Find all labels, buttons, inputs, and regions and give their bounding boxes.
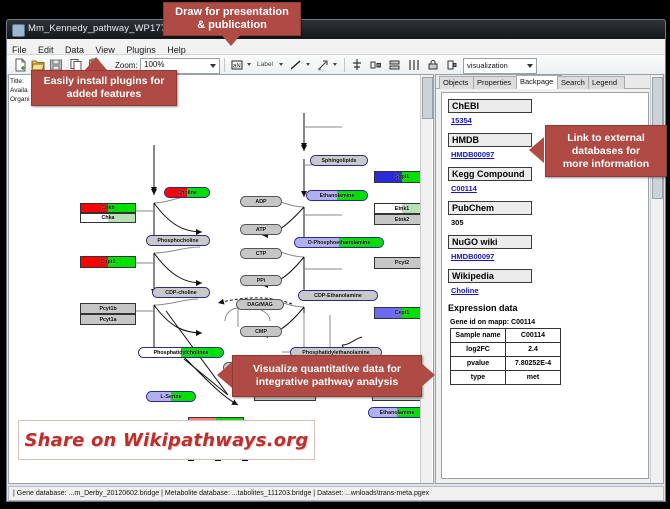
metabolite-node-cdp-ethanolamine[interactable]: CDP-Ethanolamine bbox=[298, 290, 378, 301]
cofactor-node-dagmag[interactable]: DAG/MAG bbox=[236, 299, 284, 310]
db-header-kegg-compound: Kegg Compound bbox=[448, 167, 532, 181]
lock-icon[interactable] bbox=[426, 58, 440, 72]
callout-quant-arrow-right-icon bbox=[420, 362, 435, 388]
callout-quant-line2: integrative pathway analysis bbox=[256, 376, 398, 389]
metabolite-node-phosphocholine-label: Phosphocholine bbox=[157, 238, 198, 244]
menu-item-plugins[interactable]: Plugins bbox=[126, 45, 156, 55]
gene-id-line: Gene id on mapp: C00114 bbox=[450, 319, 648, 326]
tab-legend[interactable]: Legend bbox=[588, 76, 625, 89]
cofactor-node-adp-label: ADP bbox=[255, 199, 266, 205]
expression-data-heading: Expression data bbox=[448, 303, 648, 313]
db-header-nugo-wiki: NuGO wiki bbox=[448, 235, 532, 249]
metabolite-node-l-serine-left[interactable]: L-Serine bbox=[146, 391, 196, 402]
expression-row-value: met bbox=[506, 371, 561, 385]
metabolite-node-sphingolipids[interactable]: Sphingolipids bbox=[310, 155, 368, 166]
visualization-combobox[interactable]: visualization bbox=[463, 58, 537, 74]
zoom-label: Zoom: bbox=[115, 61, 138, 70]
db-header-wikipedia: Wikipedia bbox=[448, 269, 532, 283]
visualization-chevron-down-icon bbox=[527, 64, 533, 68]
status-bar: | Gene database: ...m_Derby_20120602.bri… bbox=[8, 486, 664, 501]
gene-node-pcyt1b-label: Pcyt1b bbox=[99, 306, 116, 312]
gene-node-chka-label: Chka bbox=[102, 215, 115, 221]
expression-table-row: typemet bbox=[451, 371, 561, 385]
cofactor-node-adp[interactable]: ADP bbox=[240, 196, 282, 207]
metabolite-node-ethanolamine[interactable]: Ethanolamine bbox=[306, 190, 368, 201]
menu-item-view[interactable]: View bbox=[95, 45, 114, 55]
metabolite-node-cdp-choline[interactable]: CDP-choline bbox=[152, 287, 210, 298]
canvas-vertical-scrollbar[interactable] bbox=[420, 75, 432, 483]
callout-share-text: Share on Wikipathways.org bbox=[25, 430, 309, 451]
align-icon[interactable] bbox=[350, 58, 364, 72]
metabolite-node-o-phosphoethanolamine[interactable]: O-Phosphoethanolamine bbox=[294, 237, 384, 248]
callout-draw: Draw for presentation & publication bbox=[163, 2, 301, 36]
cofactor-node-atp-label: ATP bbox=[256, 227, 266, 233]
toolbar-separator-2 bbox=[344, 58, 345, 72]
menu-item-help[interactable]: Help bbox=[167, 45, 186, 55]
toolbar-separator bbox=[224, 58, 225, 72]
label-button[interactable]: Label bbox=[257, 61, 273, 68]
metabolite-node-phosphatidylcholines-label: Phosphatidylcholines bbox=[154, 350, 209, 356]
expression-table-row: log2FC2.4 bbox=[451, 343, 561, 357]
cofactor-node-cmp[interactable]: CMP bbox=[240, 326, 282, 337]
app-icon bbox=[12, 24, 25, 37]
tab-backpage[interactable]: Backpage bbox=[516, 75, 562, 89]
metabolite-node-phosphocholine[interactable]: Phosphocholine bbox=[146, 235, 210, 246]
interaction-icon[interactable] bbox=[316, 58, 330, 72]
menu-item-file[interactable]: File bbox=[12, 45, 27, 55]
callout-links-line3: more information bbox=[563, 158, 649, 171]
cofactor-node-ppi-label: PPi bbox=[257, 278, 266, 284]
db-value-nugo-wiki[interactable]: HMDB00097 bbox=[451, 252, 648, 261]
expression-row-key: pvalue bbox=[451, 357, 506, 371]
side-panel-tabstrip: Objects Properties Backpage Search Legen… bbox=[436, 75, 663, 89]
callout-plugins-line2: added features bbox=[67, 88, 142, 101]
metabolite-node-phosphatidylcholines[interactable]: Phosphatidylcholines bbox=[138, 347, 224, 358]
callout-links-arrow-icon bbox=[529, 137, 544, 163]
gene-node-pcyt2-label: Pcyt2 bbox=[395, 260, 409, 266]
distribute-icon[interactable] bbox=[407, 58, 421, 72]
expression-table-row: Sample nameC00114 bbox=[451, 329, 561, 343]
db-value-chebi[interactable]: 15354 bbox=[451, 116, 648, 125]
gene-node-chkb[interactable]: Chkb bbox=[80, 203, 136, 213]
metabolite-node-cdp-ethanolamine-label: CDP-Ethanolamine bbox=[314, 293, 362, 299]
screenshot-root: Mm_Kennedy_pathway_WP1771_45176.gp File … bbox=[0, 0, 670, 509]
expression-row-key: log2FC bbox=[451, 343, 506, 357]
expression-data-table: Sample nameC00114log2FC2.4pvalue7.80252E… bbox=[450, 328, 561, 385]
callout-quant-arrow-left-icon bbox=[217, 362, 232, 388]
gene-node-chpt1-label: Chpt1 bbox=[100, 259, 115, 265]
metabolite-node-ethanolamine-label: Ethanolamine bbox=[320, 193, 355, 199]
cofactor-node-ctp[interactable]: CTP bbox=[240, 248, 282, 259]
db-value-pubchem: 305 bbox=[451, 218, 648, 227]
gene-node-chkb-label: Chkb bbox=[101, 205, 114, 211]
callout-plugins-line1: Easily install plugins for bbox=[44, 75, 165, 88]
zoom-value: 100% bbox=[144, 60, 164, 69]
callout-draw-line2: & publication bbox=[197, 19, 267, 32]
order-icon[interactable] bbox=[445, 58, 459, 72]
metabolite-node-cdp-choline-label: CDP-choline bbox=[165, 290, 197, 296]
menu-item-edit[interactable]: Edit bbox=[38, 45, 54, 55]
metabolite-node-ethanolamine-bot-label: Ethanolamine bbox=[380, 410, 415, 416]
gene-node-cept1-label: Cept1 bbox=[395, 310, 410, 316]
cofactor-node-dagmag-label: DAG/MAG bbox=[247, 302, 273, 308]
label-dropdown-icon[interactable] bbox=[279, 63, 283, 66]
new-icon[interactable] bbox=[13, 58, 27, 72]
gene-node-etnk1-label: Etnk1 bbox=[395, 206, 409, 212]
metabolite-node-o-phosphoethanolamine-label: O-Phosphoethanolamine bbox=[308, 240, 371, 246]
gene-node-sgpl1-label: Sgpl1 bbox=[395, 174, 409, 180]
callout-plugins: Easily install plugins for added feature… bbox=[31, 70, 177, 106]
visualization-value: visualization bbox=[467, 61, 508, 70]
title-bar: Mm_Kennedy_pathway_WP1771_45176.gp bbox=[7, 20, 665, 39]
callout-links-line1: Link to external bbox=[567, 132, 645, 145]
gene-node-etnk2-label: Etnk2 bbox=[395, 217, 409, 223]
db-header-chebi: ChEBI bbox=[448, 99, 532, 113]
cofactor-node-ctp-label: CTP bbox=[256, 251, 267, 257]
gene-node-pcyt1a[interactable]: Pcyt1a bbox=[80, 314, 136, 325]
metabolite-node-l-serine-left-label: L-Serine bbox=[160, 394, 181, 400]
expression-row-key: Sample name bbox=[451, 329, 506, 343]
metabolite-node-choline-top-label: Choline bbox=[177, 190, 196, 196]
interaction-dropdown-icon[interactable] bbox=[333, 63, 337, 66]
metabolite-node-choline-top[interactable]: Choline bbox=[164, 187, 210, 198]
canvas-scroll-thumb[interactable] bbox=[422, 77, 433, 119]
db-value-kegg-compound[interactable]: C00114 bbox=[451, 184, 648, 193]
cofactor-node-atp[interactable]: ATP bbox=[240, 224, 282, 235]
gene-node-chka[interactable]: Chka bbox=[80, 213, 136, 223]
datanode-dropdown-icon[interactable] bbox=[247, 63, 251, 66]
cofactor-node-cmp-label: CMP bbox=[255, 329, 267, 335]
cofactor-node-ppi[interactable]: PPi bbox=[240, 275, 282, 286]
metabolite-node-ethanolamine-bot[interactable]: Ethanolamine bbox=[368, 407, 426, 418]
tab-properties[interactable]: Properties bbox=[473, 76, 522, 89]
line-dropdown-icon[interactable] bbox=[306, 63, 310, 66]
expression-table-row: pvalue7.80252E-4 bbox=[451, 357, 561, 371]
callout-share: Share on Wikipathways.org bbox=[18, 420, 315, 460]
chevron-down-icon bbox=[210, 64, 216, 68]
expression-row-value: 2.4 bbox=[506, 343, 561, 357]
svg-text:aN: aN bbox=[233, 64, 241, 70]
callout-quant-line1: Visualize quantitative data for bbox=[253, 363, 401, 376]
callout-draw-arrow-icon bbox=[220, 33, 242, 46]
group-icon[interactable] bbox=[369, 58, 383, 72]
callout-draw-line1: Draw for presentation bbox=[175, 6, 289, 19]
db-header-hmdb: HMDB bbox=[448, 133, 532, 147]
line-icon[interactable] bbox=[289, 58, 303, 72]
menu-bar: File Edit Data View Plugins Help bbox=[7, 39, 665, 55]
callout-links-line2: databases for bbox=[572, 145, 640, 158]
metabolite-node-sphingolipids-label: Sphingolipids bbox=[321, 158, 356, 164]
callout-plugins-arrow-icon bbox=[85, 57, 107, 70]
expression-row-value: C00114 bbox=[506, 329, 561, 343]
stack-icon[interactable] bbox=[388, 58, 402, 72]
gene-node-pcyt1a-label: Pcyt1a bbox=[99, 317, 116, 323]
callout-quant: Visualize quantitative data for integrat… bbox=[232, 355, 422, 397]
datanode-icon[interactable]: aN bbox=[230, 58, 244, 72]
menu-item-data[interactable]: Data bbox=[65, 45, 84, 55]
gene-node-chpt1[interactable]: Chpt1 bbox=[80, 256, 136, 268]
callout-links: Link to external databases for more info… bbox=[545, 125, 667, 177]
db-header-pubchem: PubChem bbox=[448, 201, 532, 215]
expression-row-value: 7.80252E-4 bbox=[506, 357, 561, 371]
expression-row-key: type bbox=[451, 371, 506, 385]
db-value-wikipedia[interactable]: Choline bbox=[451, 286, 648, 295]
gene-node-pcyt1b[interactable]: Pcyt1b bbox=[80, 303, 136, 314]
